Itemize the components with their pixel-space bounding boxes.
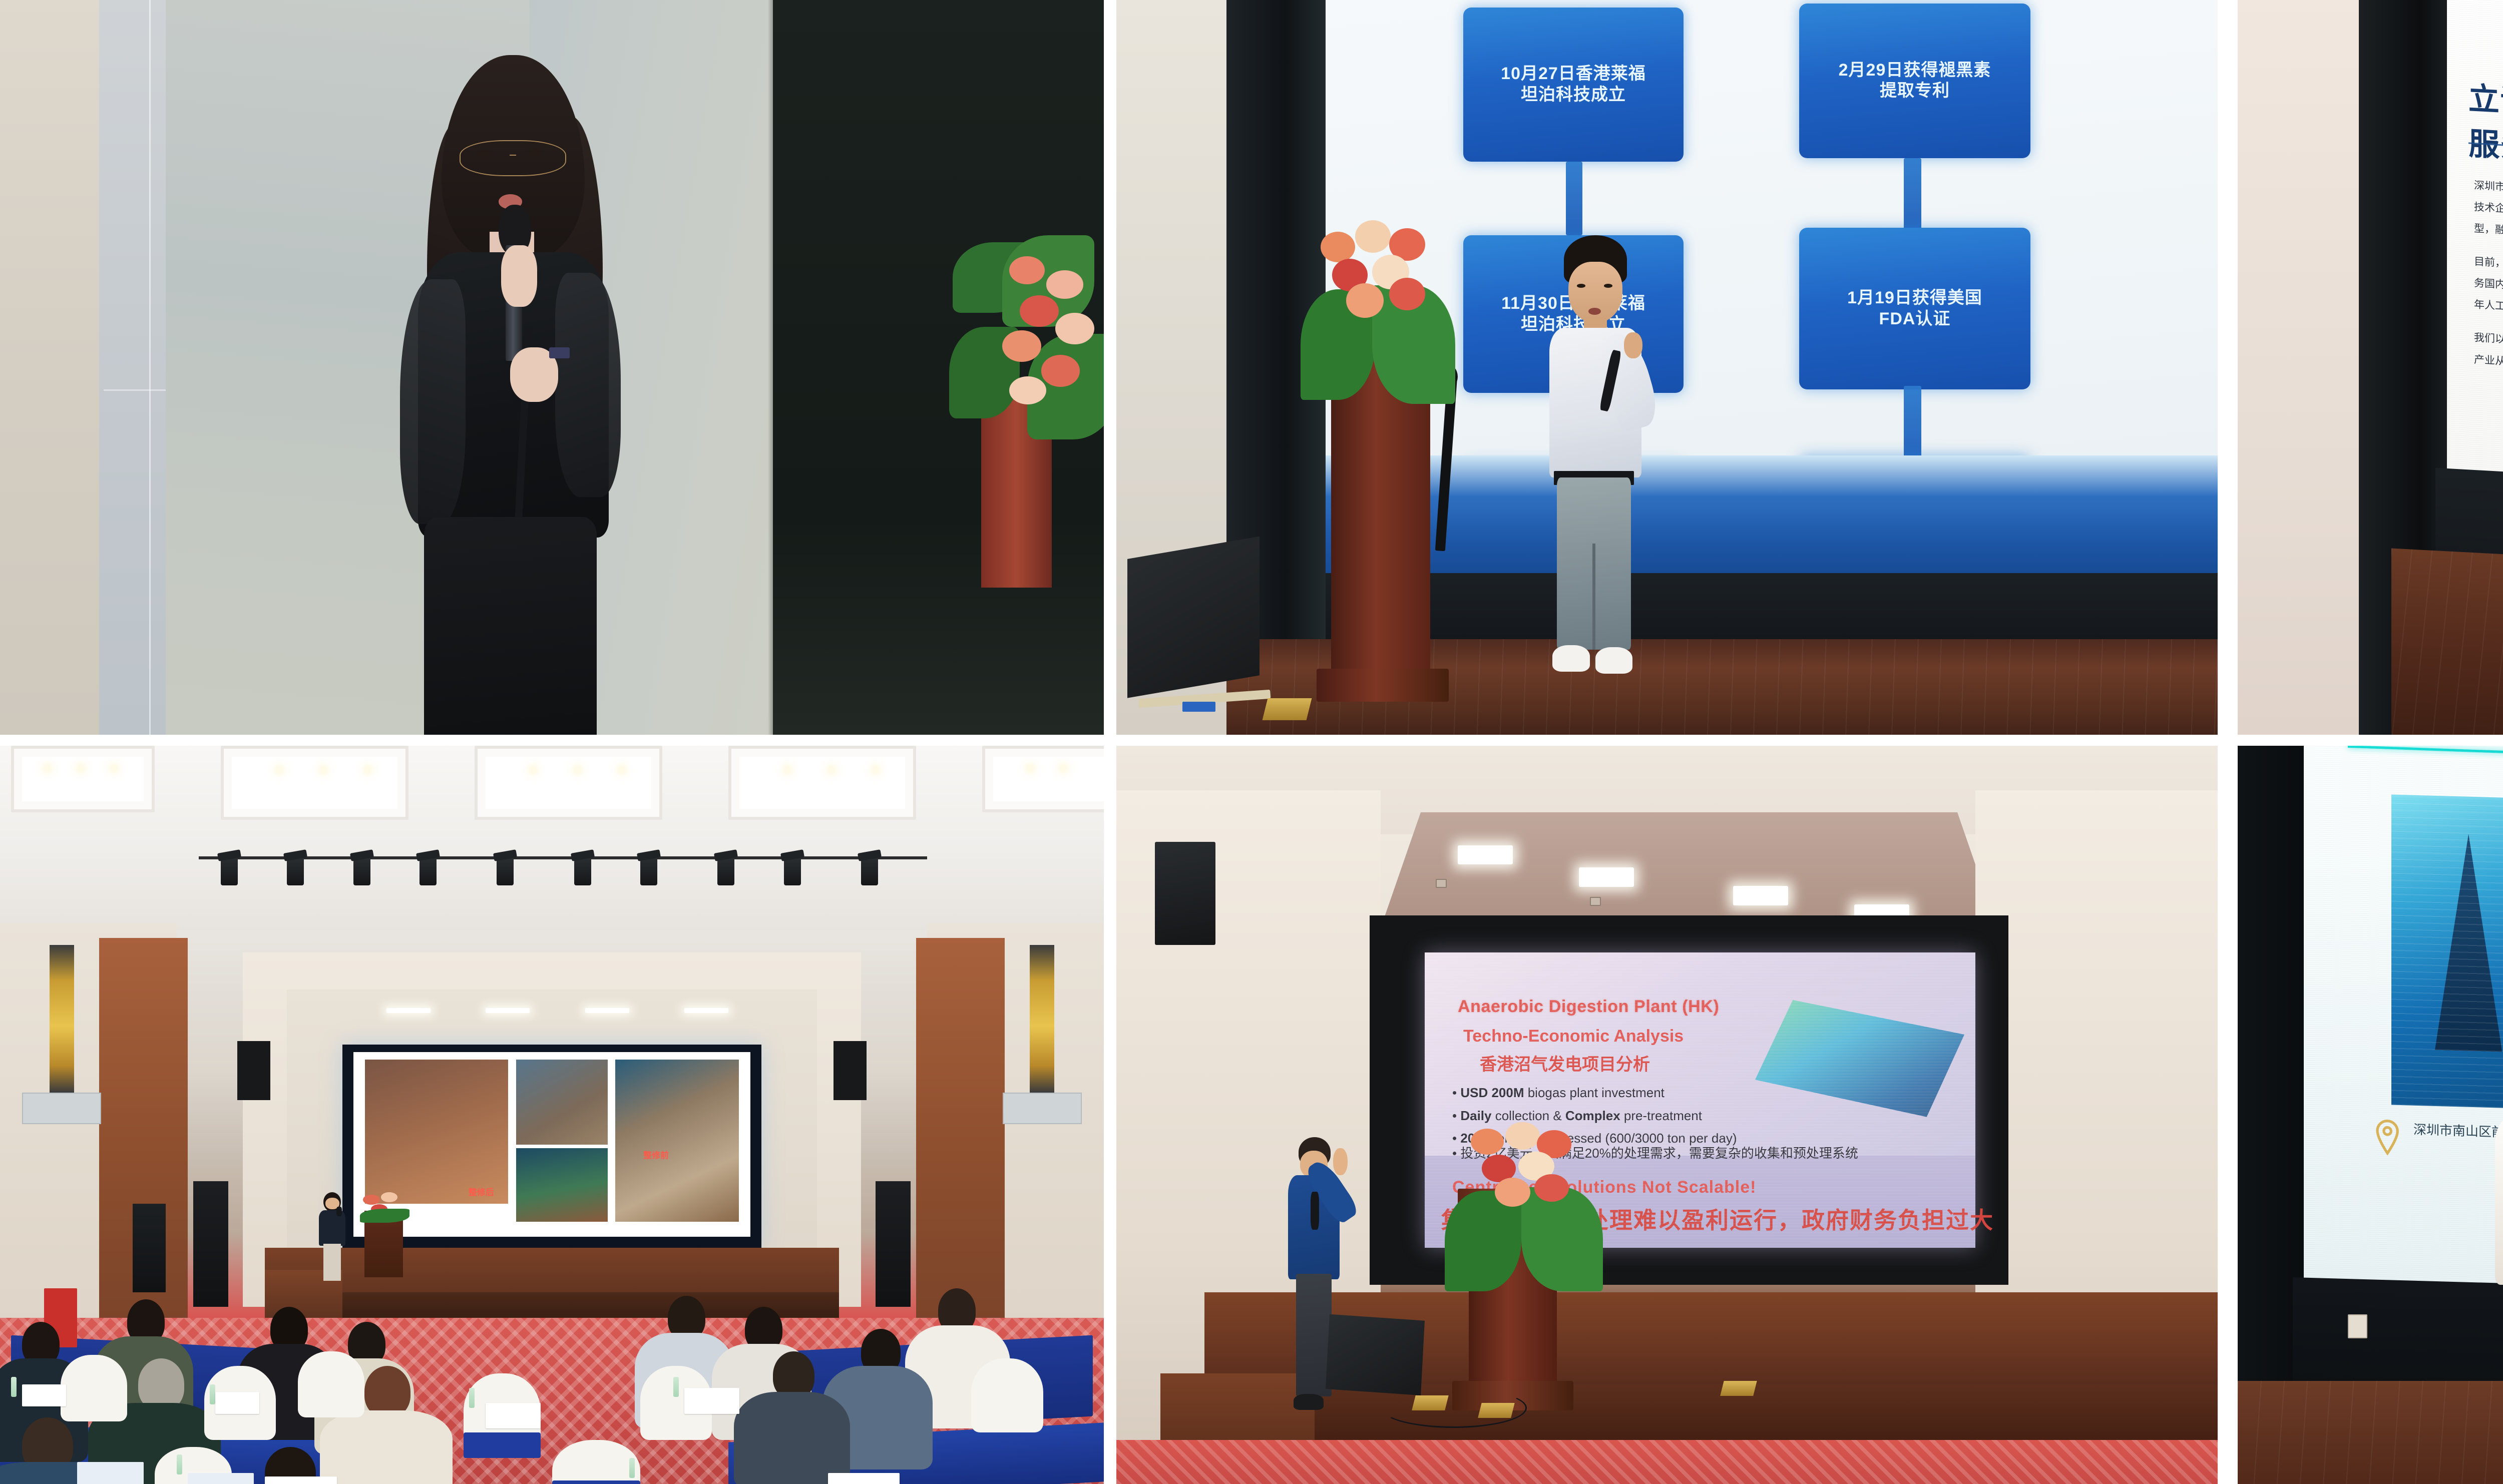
panel-top-middle: 10月27日香港莱福 坦泊科技成立 2月29日获得褪黑素 提取专利 11月30日…	[1116, 0, 2218, 735]
floor-planks	[2238, 1381, 2503, 1484]
wall-column-beige	[0, 0, 99, 735]
microphone-icon	[336, 1207, 342, 1216]
timeline-connector	[1566, 162, 1582, 235]
audience-torso	[320, 1410, 453, 1484]
podium-base	[1317, 669, 1449, 702]
stage-monitor-speaker	[1127, 537, 1260, 698]
eyeglasses-icon	[460, 140, 566, 176]
slide-photo	[516, 1148, 608, 1222]
wall-sconce-left	[50, 945, 74, 1093]
timeline-connector	[1904, 386, 1921, 463]
hvac-vent-left	[22, 1093, 101, 1124]
panel-bottom-left: 整修后 整修前	[0, 746, 1104, 1484]
microphone-icon	[1311, 1192, 1319, 1230]
wall-seam	[149, 0, 151, 735]
led-screen-lower-band	[1326, 455, 2218, 573]
panel-top-left	[0, 0, 1104, 735]
t-shirt	[2495, 1116, 2503, 1284]
timeline-box-middle-right: 1月19日获得美国 FDA认证	[1799, 228, 2030, 389]
trouser-gap	[1592, 544, 1595, 649]
par-can-light	[784, 856, 801, 885]
flower-arrangement	[1309, 220, 1452, 411]
torso	[319, 1210, 346, 1246]
rose	[1020, 295, 1059, 327]
name-card	[684, 1388, 739, 1414]
blue-gaffer-tape	[1182, 702, 1215, 712]
line: FDA认证	[1879, 309, 1951, 329]
wall-sconce-right	[1030, 945, 1054, 1093]
lighting-truss	[199, 856, 927, 859]
chair-sash	[464, 1432, 541, 1458]
name-card	[22, 1384, 66, 1406]
wall-seam-horizontal	[104, 389, 165, 391]
rose	[1471, 1129, 1504, 1155]
skirt	[424, 517, 597, 735]
par-can-light	[221, 856, 238, 885]
chair-cover	[61, 1355, 127, 1421]
rose	[1002, 330, 1041, 362]
foliage	[1521, 1187, 1603, 1291]
rose	[381, 1192, 398, 1202]
gold-floor-marker	[1263, 698, 1312, 720]
floor-speaker	[133, 1204, 166, 1292]
wall-column-grey	[99, 0, 165, 735]
ceiling-coffer	[982, 746, 1104, 812]
floor-planks	[2391, 549, 2503, 735]
downlight	[574, 766, 581, 773]
ceiling-coffer	[475, 746, 662, 820]
flower-arrangement	[360, 1192, 409, 1222]
recessed-light	[1579, 867, 1634, 886]
legs	[323, 1244, 341, 1281]
par-can-light	[353, 856, 370, 885]
rose	[1009, 256, 1045, 284]
downlight	[1027, 765, 1034, 772]
rose	[1534, 1174, 1569, 1202]
water-bottle	[469, 1388, 475, 1408]
ceiling-sensor-icon	[1590, 897, 1601, 906]
name-card	[828, 1473, 900, 1484]
water-bottle	[629, 1458, 635, 1478]
recessed-light	[1733, 886, 1788, 905]
panel-top-right: 立谱智造-基于垂类大模型的零部件智造服务商 深圳市乐谱兰斯科技有限公司，品牌“立…	[2238, 0, 2503, 735]
flower-arrangement	[1458, 1122, 1590, 1285]
ceiling-coffer	[221, 746, 408, 820]
wall-speaker	[1155, 842, 1215, 945]
sleeve-left	[400, 279, 466, 524]
panel-bottom-middle: Anaerobic Digestion Plant (HK) Techno-Ec…	[1116, 746, 2218, 1484]
stage-strip-light	[386, 1008, 431, 1013]
eye-left	[478, 150, 491, 158]
chair-sash	[552, 1480, 640, 1484]
hand	[1624, 332, 1642, 359]
par-can-light	[717, 856, 734, 885]
slide-photo	[516, 1060, 608, 1145]
downlight	[784, 766, 791, 773]
tissue-box	[77, 1462, 143, 1484]
wall-edge-highlight	[768, 0, 773, 735]
stage-strip-light	[585, 1008, 629, 1013]
downlight	[618, 766, 625, 773]
rose	[1055, 313, 1094, 344]
name-card	[265, 1476, 336, 1484]
par-can-light	[640, 856, 657, 885]
speaker-stack-left	[193, 1181, 229, 1307]
rose	[1046, 270, 1083, 298]
water-bottle	[673, 1377, 679, 1397]
speaker-on-stage	[314, 1192, 350, 1281]
hand-gesture	[1333, 1148, 1348, 1176]
line: 10月27日香港莱福	[1501, 64, 1646, 84]
gold-floor-marker	[1720, 1381, 1757, 1396]
sleeve-right	[555, 273, 621, 497]
line: 提取专利	[1880, 81, 1950, 101]
line: 1月19日获得美国	[1847, 288, 1982, 308]
line: 2月29日获得褪黑素	[1839, 60, 1991, 81]
par-can-light	[420, 856, 437, 885]
rose	[363, 1195, 380, 1205]
rose	[1355, 220, 1391, 253]
timeline-box-top-left: 10月27日香港莱福 坦泊科技成立	[1463, 8, 1684, 162]
stage-back-wall	[1326, 573, 2218, 639]
rose	[1041, 355, 1080, 386]
shoe-right	[1595, 647, 1632, 674]
stage-strip-light	[486, 1008, 530, 1013]
name-card	[215, 1392, 259, 1414]
gutter	[2218, 0, 2238, 735]
eye-right	[1604, 284, 1612, 288]
par-can-light	[287, 856, 304, 885]
par-can-light	[574, 856, 591, 885]
shoes	[1294, 1394, 1324, 1410]
rose	[1321, 232, 1355, 262]
chair-cover	[298, 1351, 364, 1418]
stage-strip-light	[684, 1008, 728, 1013]
chair-cover	[971, 1358, 1043, 1432]
stage-monitor-speaker	[1326, 1314, 1425, 1395]
hand-upper	[501, 245, 537, 306]
audience-torso	[734, 1392, 850, 1484]
line-array-speaker-left	[237, 1041, 270, 1100]
slide-photo	[615, 1060, 738, 1222]
rose	[1495, 1178, 1530, 1207]
downlight	[828, 766, 835, 773]
tissue-box	[188, 1473, 254, 1484]
timeline-box-top-right: 2月29日获得褪黑素 提取专利	[1799, 4, 2030, 158]
stage-front-face	[1204, 1384, 2218, 1443]
slide-annotation: 整修后	[469, 1185, 494, 1198]
downlight	[111, 765, 118, 772]
par-can-light	[861, 856, 878, 885]
photo-collage: 10月27日香港莱福 坦泊科技成立 2月29日获得褪黑素 提取专利 11月30日…	[0, 0, 2503, 1484]
gutter	[1104, 0, 1116, 735]
ceiling-coffer	[728, 746, 916, 820]
timeline-connector	[1904, 158, 1921, 235]
panel-bottom-right: 深圳市南山区前海湾生态科技园 关于我们 核心团队 深圳指南星程智能科技有限公司，…	[2238, 746, 2503, 1484]
water-bottle	[11, 1377, 17, 1397]
line-array-speaker-right	[833, 1041, 867, 1100]
foliage	[360, 1209, 409, 1223]
wood-wall-panel-right	[916, 938, 1004, 1322]
name-card	[486, 1403, 541, 1429]
flower-arrangement	[949, 235, 1104, 588]
speaker-male-timeline	[1524, 235, 1667, 676]
slide-photo-grid: 整修后 整修前	[353, 1052, 751, 1237]
recessed-light	[1458, 845, 1513, 864]
ceiling-sensor-icon	[1436, 879, 1447, 888]
rose	[1009, 376, 1046, 404]
slide-photo	[365, 1060, 508, 1204]
carpet	[1116, 1440, 2218, 1484]
eye-left	[1577, 284, 1585, 288]
cable-coil	[1381, 1388, 1527, 1428]
water-bottle	[210, 1384, 215, 1404]
presenter-clicker	[549, 347, 570, 358]
wall-socket-icon	[2348, 1314, 2367, 1338]
ceiling-coffer	[11, 746, 155, 812]
rose	[1346, 283, 1383, 318]
led-scanline-overlay	[2293, 746, 2503, 1319]
rose	[1505, 1122, 1540, 1150]
speaker-female	[364, 55, 662, 735]
rose	[1389, 278, 1425, 310]
par-can-light	[497, 856, 514, 885]
hvac-vent-right	[1003, 1093, 1082, 1124]
audience-head	[364, 1366, 411, 1417]
speaker-stack-right	[876, 1181, 911, 1307]
slide-annotation: 整修前	[643, 1148, 669, 1161]
speaker-male-about	[2479, 1041, 2503, 1484]
gutter-row	[0, 735, 2503, 746]
line: 坦泊科技成立	[1521, 85, 1626, 105]
downlight	[364, 766, 371, 773]
shoe-left	[1552, 645, 1589, 672]
water-bottle	[177, 1454, 182, 1474]
